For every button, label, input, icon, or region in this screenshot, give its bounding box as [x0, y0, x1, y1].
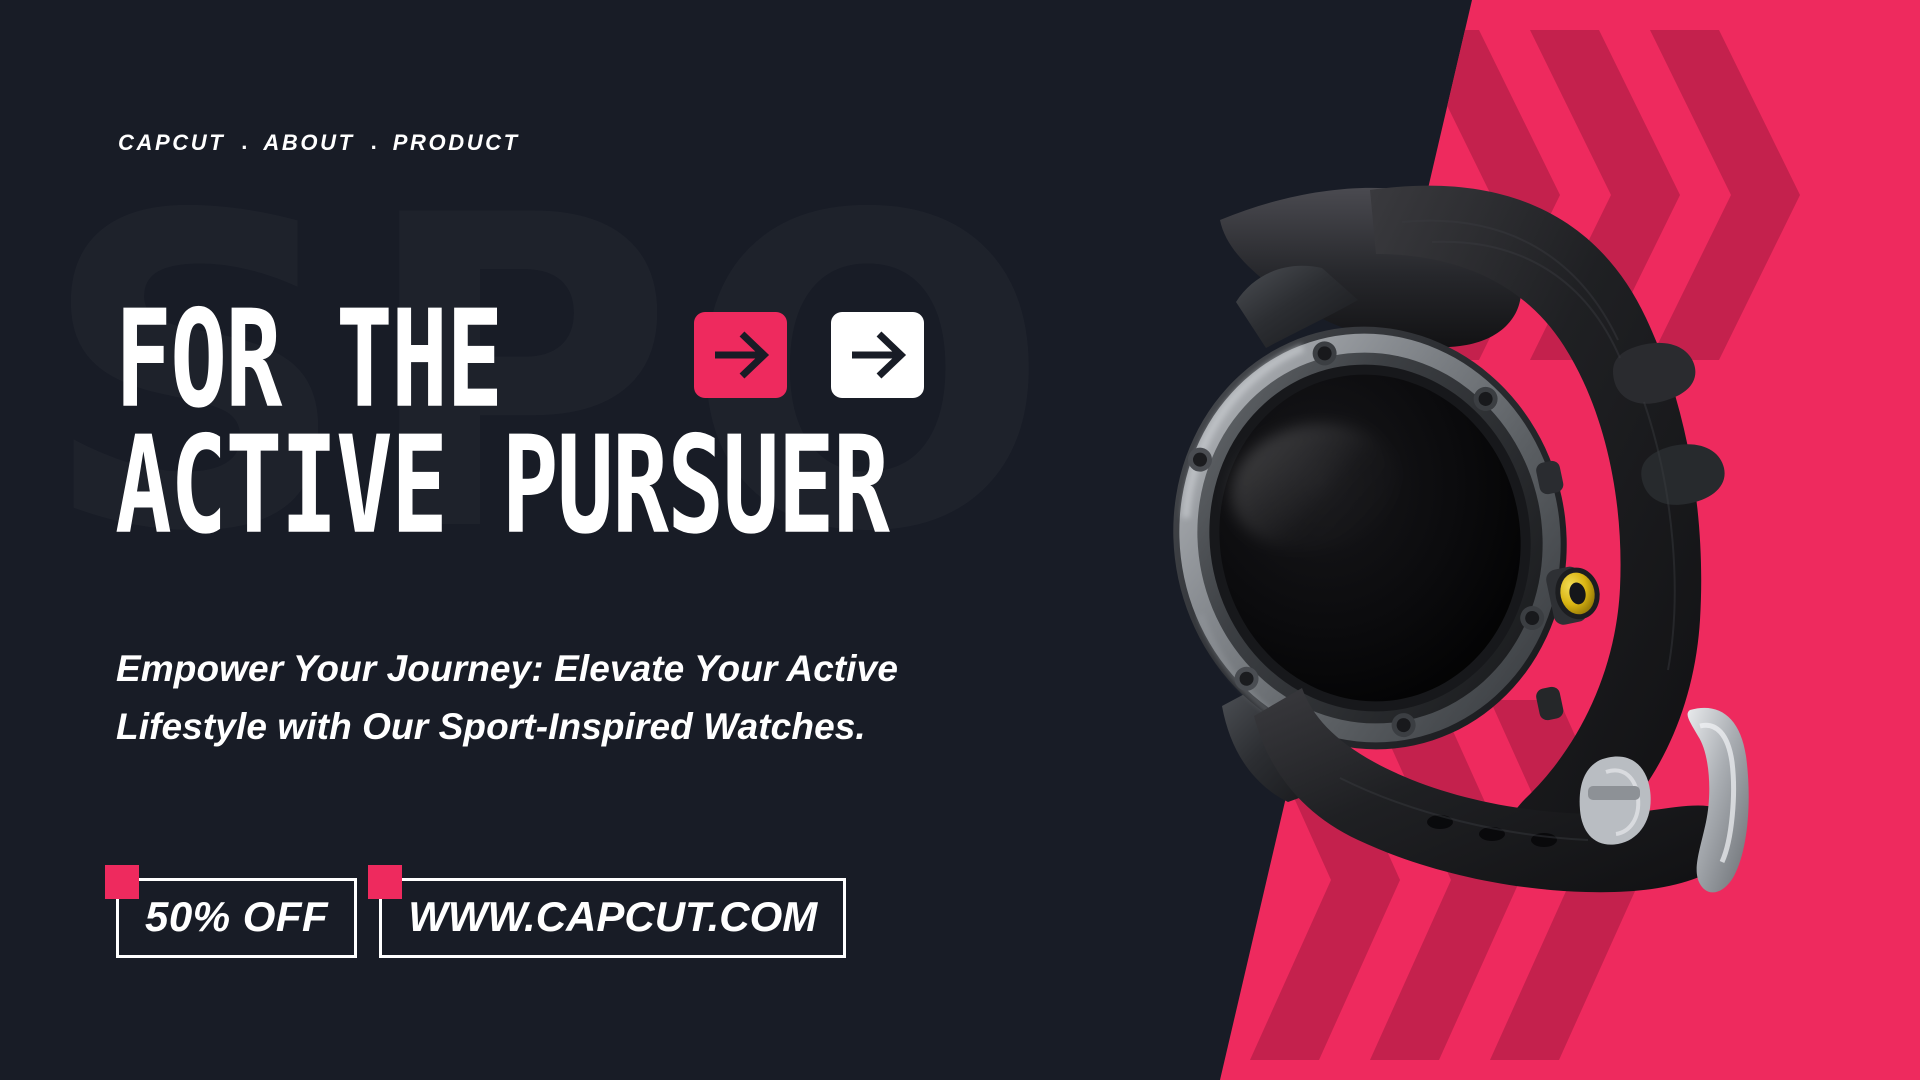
top-navigation: CAPCUT . ABOUT . PRODUCT [118, 130, 520, 156]
promo-banner: SPO CAPCUT . ABOUT . PRODUCT FOR THE [0, 0, 1920, 1080]
arrow-button-group [694, 312, 924, 398]
subheading-line-2: Lifestyle with Our Sport-Inspired Watche… [116, 698, 936, 756]
corner-accent-square [105, 865, 139, 899]
next-button-secondary[interactable] [831, 312, 924, 398]
website-badge[interactable]: WWW.CAPCUT.COM [379, 878, 846, 958]
corner-accent-square [368, 865, 402, 899]
nav-item-capcut[interactable]: CAPCUT [118, 130, 225, 156]
subheading-line-1: Empower Your Journey: Elevate Your Activ… [116, 640, 936, 698]
discount-badge-label: 50% OFF [145, 893, 328, 941]
nav-item-about[interactable]: ABOUT [263, 130, 354, 156]
subheading-block: Empower Your Journey: Elevate Your Activ… [116, 640, 936, 757]
nav-separator: . [355, 129, 393, 155]
next-button-primary[interactable] [694, 312, 787, 398]
nav-item-product[interactable]: PRODUCT [393, 130, 520, 156]
nav-separator: . [225, 129, 263, 155]
website-badge-label: WWW.CAPCUT.COM [408, 893, 817, 941]
arrow-right-icon [849, 329, 907, 381]
product-image-sport-smartwatch [1040, 150, 1800, 940]
arrow-right-icon [712, 329, 770, 381]
discount-badge[interactable]: 50% OFF [116, 878, 357, 958]
headline-line-2: ACTIVE PURSUER [115, 418, 888, 553]
cta-badge-row: 50% OFF WWW.CAPCUT.COM [116, 878, 846, 958]
headline-block: FOR THE [115, 300, 1082, 544]
